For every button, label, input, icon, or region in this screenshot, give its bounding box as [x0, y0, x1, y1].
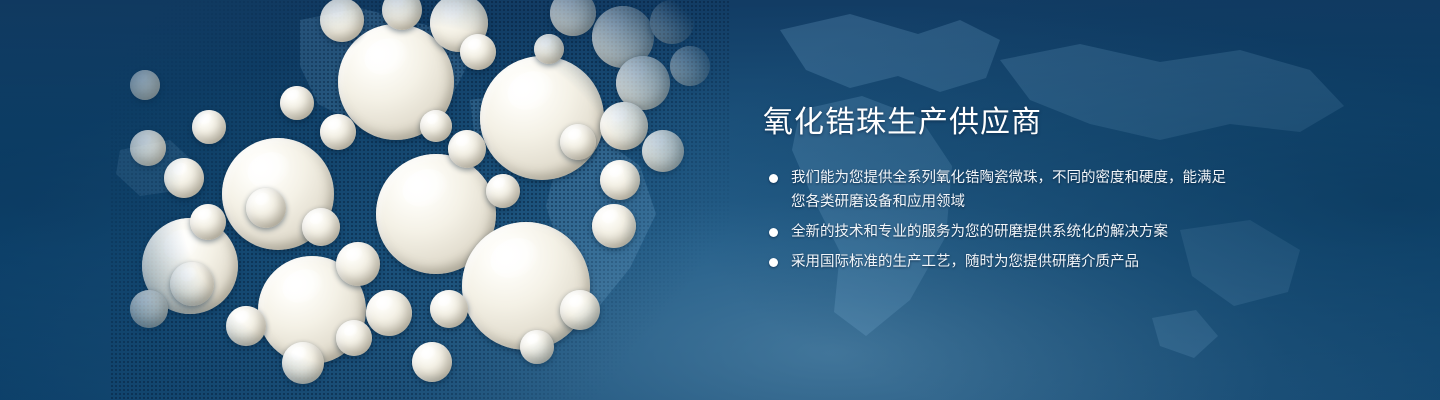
list-item-label: 全新的技术和专业的服务为您的研磨提供系统化的解决方案 [791, 224, 1168, 240]
bullet-dot-icon [769, 174, 778, 183]
zirconia-bead-cluster-image [130, 0, 750, 400]
list-item-label: 采用国际标准的生产工艺，随时为您提供研磨介质产品 [791, 254, 1139, 270]
list-item: 采用国际标准的生产工艺，随时为您提供研磨介质产品 [763, 250, 1233, 274]
bullet-dot-icon [769, 228, 778, 237]
list-item: 全新的技术和专业的服务为您的研磨提供系统化的解决方案 [763, 220, 1233, 244]
list-item: 我们能为您提供全系列氧化锆陶瓷微珠，不同的密度和硬度，能满足您各类研磨设备和应用… [763, 166, 1233, 214]
hero-banner: 氧化锆珠生产供应商 我们能为您提供全系列氧化锆陶瓷微珠，不同的密度和硬度，能满足… [0, 0, 1440, 400]
bullet-dot-icon [769, 258, 778, 267]
banner-content: 氧化锆珠生产供应商 我们能为您提供全系列氧化锆陶瓷微珠，不同的密度和硬度，能满足… [763, 106, 1233, 274]
banner-feature-list: 我们能为您提供全系列氧化锆陶瓷微珠，不同的密度和硬度，能满足您各类研磨设备和应用… [763, 166, 1233, 274]
banner-headline: 氧化锆珠生产供应商 [763, 106, 1233, 140]
list-item-label: 我们能为您提供全系列氧化锆陶瓷微珠，不同的密度和硬度，能满足您各类研磨设备和应用… [791, 170, 1226, 210]
